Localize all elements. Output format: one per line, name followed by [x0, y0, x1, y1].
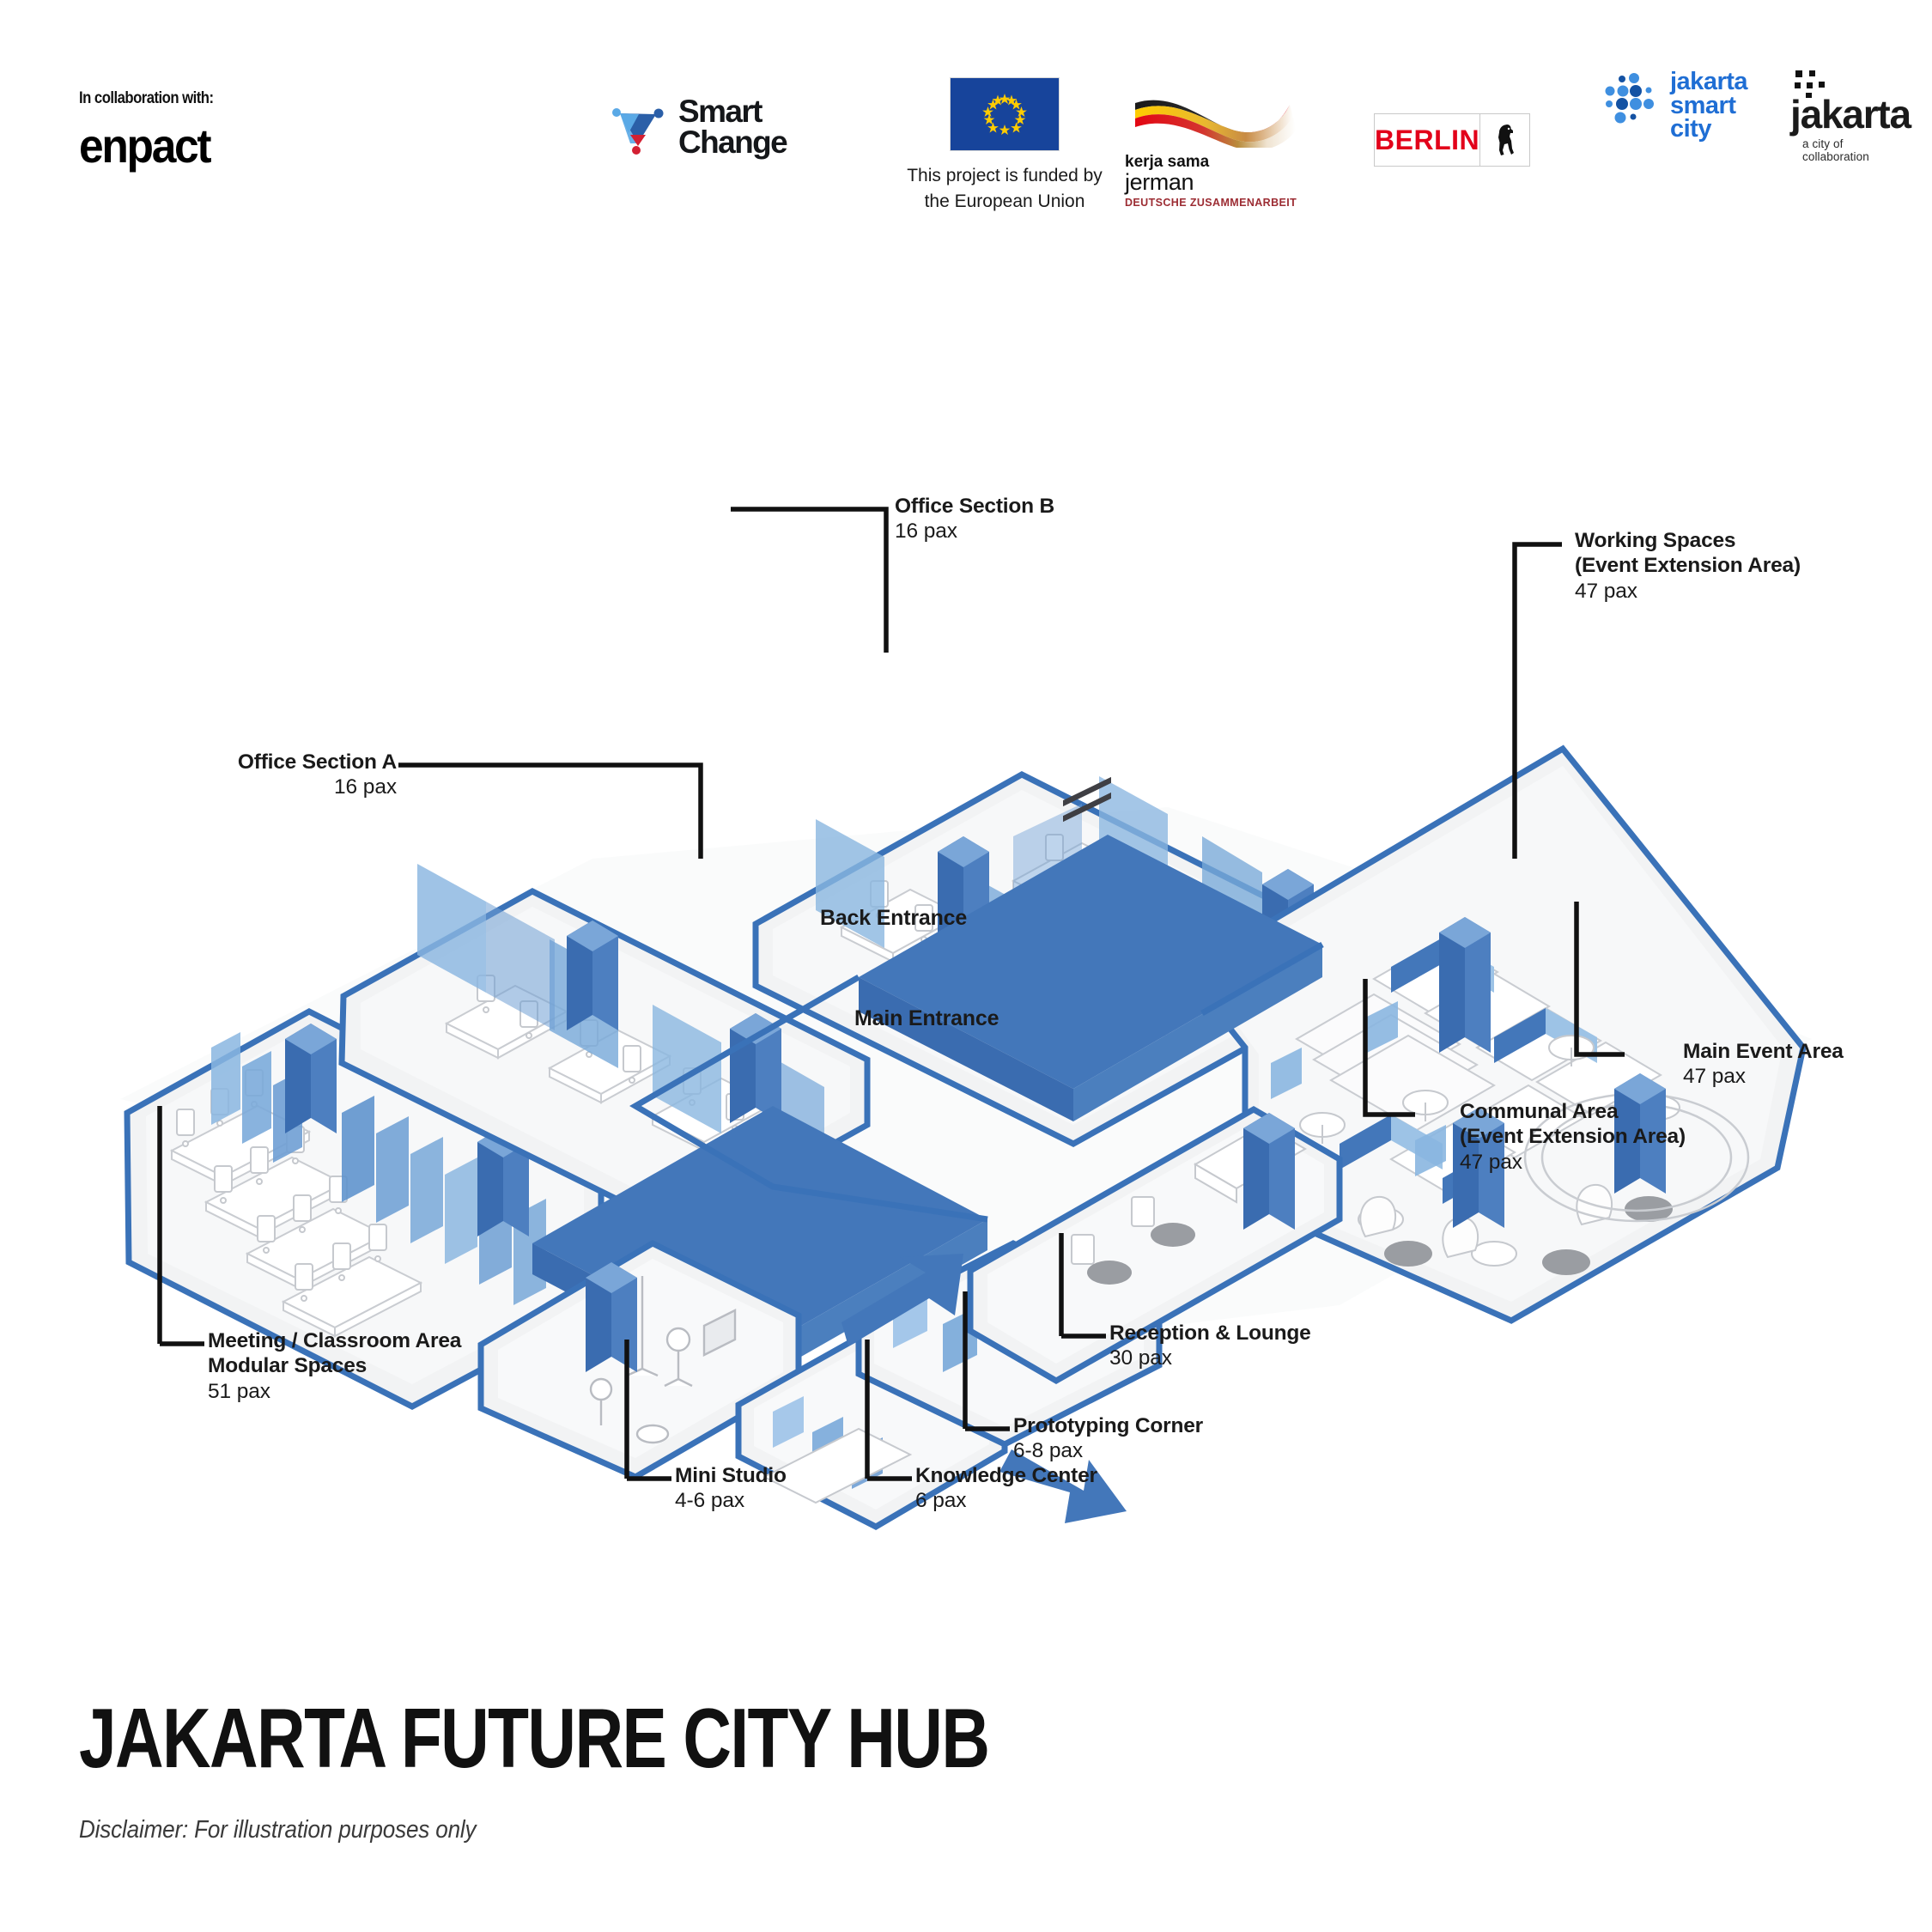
callout-pax: 47 pax	[1575, 579, 1801, 605]
european-union-logo: This project is funded by the European U…	[876, 77, 1133, 215]
smart-change-mark-icon	[610, 99, 666, 155]
disclaimer-text: Disclaimer: For illustration purposes on…	[79, 1816, 1625, 1844]
collaboration-label: In collaboration with:	[79, 89, 214, 108]
page-title: JAKARTA FUTURE CITY HUB	[79, 1696, 1453, 1780]
callout-pax: 16 pax	[895, 519, 1054, 544]
eu-funding-line1: This project is funded by	[876, 163, 1133, 189]
callout-title: Knowledge Center	[915, 1463, 1097, 1488]
callout-pax: 30 pax	[1109, 1346, 1311, 1371]
callout-title: Main Event Area	[1683, 1039, 1844, 1064]
callout-prototyping-corner: Prototyping Corner 6-8 pax	[1013, 1413, 1203, 1464]
callout-title: Working Spaces	[1575, 528, 1801, 553]
label-back-entrance: Back Entrance	[820, 906, 967, 931]
callout-office-section-b: Office Section B 16 pax	[895, 494, 1054, 544]
collaboration-block: In collaboration with: enpact	[79, 89, 232, 170]
kerja-sama-jerman-logo: kerja sama jerman DEUTSCHE ZUSAMMENARBEI…	[1125, 86, 1348, 209]
jakarta-wordmark: jakarta	[1790, 94, 1911, 134]
berlin-wordmark: BERLIN	[1375, 114, 1479, 166]
columns-studio	[586, 1262, 637, 1372]
callout-pax: 6 pax	[915, 1488, 1097, 1514]
eu-funding-line2: the European Union	[876, 189, 1133, 215]
jsc-line2: smart	[1670, 94, 1747, 118]
berlin-bear-icon	[1479, 114, 1529, 166]
callout-title: Office Section B	[895, 494, 1054, 519]
callout-communal-area: Communal Area (Event Extension Area) 47 …	[1460, 1099, 1686, 1176]
smart-change-wordmark: Smart Change	[678, 96, 787, 157]
eu-funding-text: This project is funded by the European U…	[876, 163, 1133, 215]
columns-reception	[1243, 1113, 1295, 1230]
german-indonesian-flag-wave-icon	[1130, 86, 1302, 148]
callout-title: Prototyping Corner	[1013, 1413, 1203, 1438]
callout-pax: 47 pax	[1460, 1150, 1686, 1176]
callout-mini-studio: Mini Studio 4-6 pax	[675, 1463, 787, 1514]
callout-pax: 51 pax	[208, 1379, 461, 1405]
callout-subtitle: (Event Extension Area)	[1575, 553, 1801, 578]
jakarta-smart-city-logo: jakarta smart city	[1601, 70, 1747, 142]
callout-pax: 4-6 pax	[675, 1488, 787, 1514]
smart-change-line1: Smart	[678, 96, 787, 127]
callout-meeting-classroom-area: Meeting / Classroom Area Modular Spaces …	[208, 1328, 461, 1405]
jakarta-tagline: a city of collaboration	[1802, 137, 1911, 163]
jsc-dot-matrix-icon	[1601, 72, 1663, 139]
callout-main-event-area: Main Event Area 47 pax	[1683, 1039, 1844, 1090]
jerman-line2: jerman	[1125, 171, 1348, 194]
callout-subtitle: Modular Spaces	[208, 1353, 461, 1378]
callout-working-spaces: Working Spaces (Event Extension Area) 47…	[1575, 528, 1801, 605]
smart-change-line2: Change	[678, 127, 787, 158]
jerman-line1: kerja sama	[1125, 154, 1348, 171]
callout-reception-lounge: Reception & Lounge 30 pax	[1109, 1321, 1311, 1371]
enpact-logo: enpact	[79, 122, 220, 170]
jsc-line1: jakarta	[1670, 70, 1747, 94]
footer: JAKARTA FUTURE CITY HUB Disclaimer: For …	[79, 1696, 1796, 1844]
partner-logos: Smart Change	[592, 77, 1863, 232]
jsc-wordmark: jakarta smart city	[1670, 70, 1747, 142]
eu-flag-icon	[950, 77, 1060, 151]
label-main-entrance: Main Entrance	[854, 1006, 999, 1031]
callout-title: Communal Area	[1460, 1099, 1686, 1124]
callout-office-section-a: Office Section A 16 pax	[238, 750, 397, 800]
jerman-line3: DEUTSCHE ZUSAMMENARBEIT	[1125, 197, 1348, 209]
callout-title: Meeting / Classroom Area	[208, 1328, 461, 1353]
callout-pax: 16 pax	[238, 775, 397, 800]
callout-pax: 6-8 pax	[1013, 1438, 1203, 1464]
callout-title: Office Section A	[238, 750, 397, 775]
callout-title: Reception & Lounge	[1109, 1321, 1311, 1346]
callout-pax: 47 pax	[1683, 1064, 1844, 1090]
berlin-box: BERLIN	[1374, 113, 1530, 167]
callout-title: Mini Studio	[675, 1463, 787, 1488]
callout-knowledge-center: Knowledge Center 6 pax	[915, 1463, 1097, 1514]
jakarta-logo: jakarta a city of collaboration	[1790, 94, 1911, 163]
berlin-logo: BERLIN	[1374, 113, 1530, 167]
jsc-line3: city	[1670, 118, 1747, 142]
callout-subtitle: (Event Extension Area)	[1460, 1124, 1686, 1149]
smart-change-logo: Smart Change	[610, 96, 787, 157]
header-logo-bar: In collaboration with: enpact Smart Chan…	[0, 0, 1932, 258]
